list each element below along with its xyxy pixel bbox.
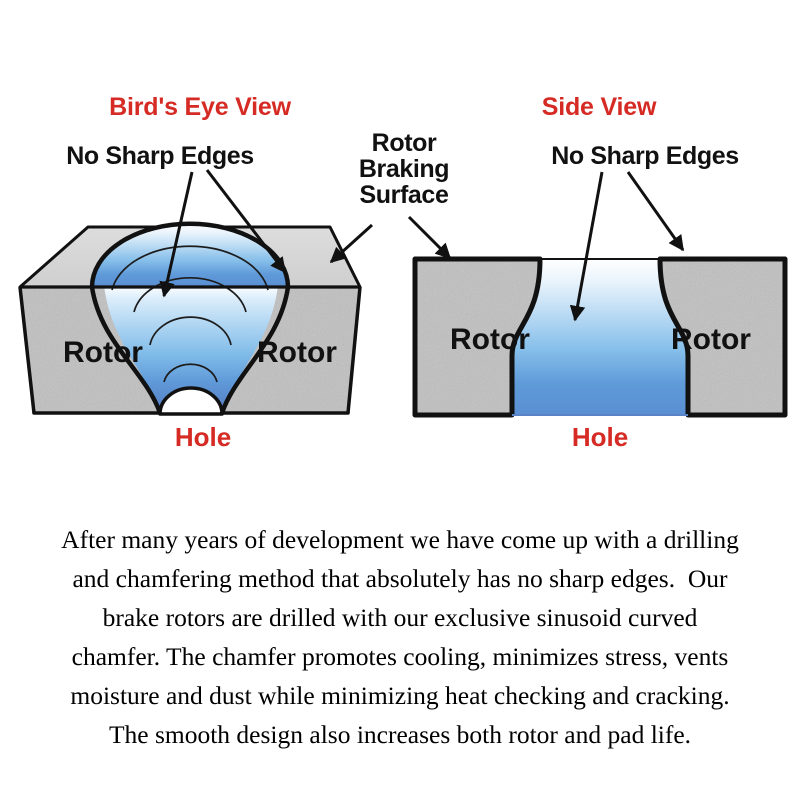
rotor-braking-surface-line2: Braking (359, 155, 449, 183)
side-view-hole-label: Hole (572, 422, 628, 452)
diagram-page: Bird's Eye View No Sharp Edges Rotor Bra… (0, 0, 800, 800)
description-line-3: brake rotors are drilled with our exclus… (6, 598, 794, 637)
arrow-side-no-sharp-edges-right (628, 172, 683, 250)
arrow-braking-surface-right (409, 217, 450, 258)
birds-eye-title: Bird's Eye View (109, 93, 291, 121)
side-view-rotor-left-label: Rotor (450, 323, 530, 356)
description-paragraph: After many years of development we have … (0, 520, 800, 754)
birds-eye-block (20, 224, 360, 414)
description-line-4: chamfer. The chamfer promotes cooling, m… (6, 637, 794, 676)
rotor-braking-surface-line3: Surface (360, 181, 449, 209)
birds-eye-hole-label: Hole (175, 422, 231, 452)
description-line-1: After many years of development we have … (6, 520, 794, 559)
description-line-5: moisture and dust while minimizing heat … (6, 676, 794, 715)
birds-eye-rotor-right-label: Rotor (257, 336, 337, 369)
rotor-braking-surface-line1: Rotor (372, 129, 437, 157)
description-line-6: The smooth design also increases both ro… (6, 715, 794, 754)
birds-eye-no-sharp-edges-label: No Sharp Edges (66, 142, 254, 170)
side-view-rotor-right-label: Rotor (671, 323, 751, 356)
description-line-2: and chamfering method that absolutely ha… (6, 559, 794, 598)
side-view-title: Side View (542, 93, 657, 121)
side-view-no-sharp-edges-label: No Sharp Edges (551, 142, 739, 170)
birds-eye-rotor-left-label: Rotor (63, 336, 143, 369)
